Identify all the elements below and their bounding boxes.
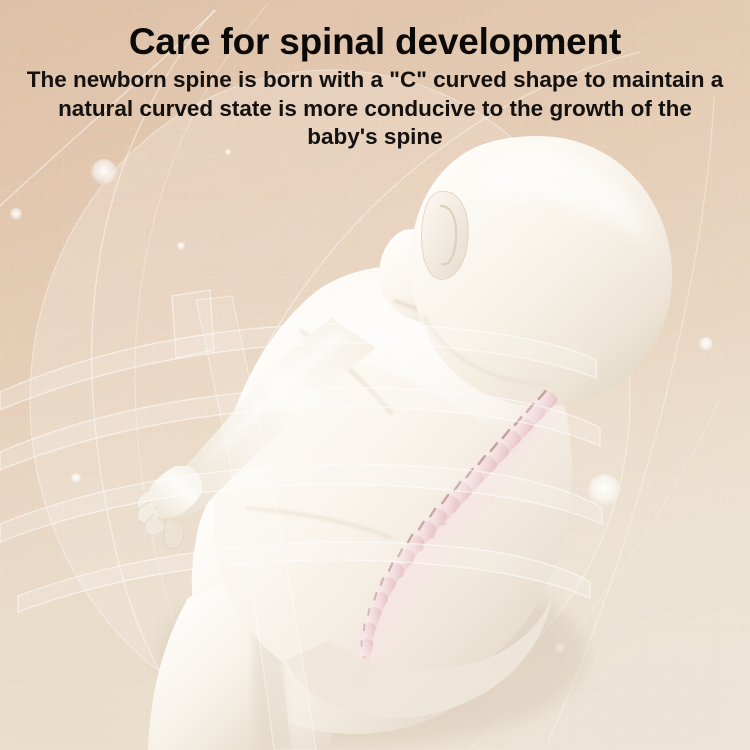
page-subtitle: The newborn spine is born with a "C" cur…: [17, 66, 733, 152]
scan-band-2: [0, 388, 600, 470]
poster-canvas: Care for spinal development The newborn …: [0, 0, 750, 750]
scan-band-3: [0, 464, 602, 542]
subtitle-line-2: natural curved state is more conducive t…: [17, 95, 733, 124]
subtitle-line-1: The newborn spine is born with a "C" cur…: [17, 66, 733, 95]
subtitle-line-3: baby's spine: [17, 123, 733, 152]
scan-band-4: [18, 542, 590, 612]
text-block: Care for spinal development The newborn …: [0, 0, 750, 152]
scan-sheet-vertical: [196, 296, 316, 750]
page-title: Care for spinal development: [0, 0, 750, 62]
